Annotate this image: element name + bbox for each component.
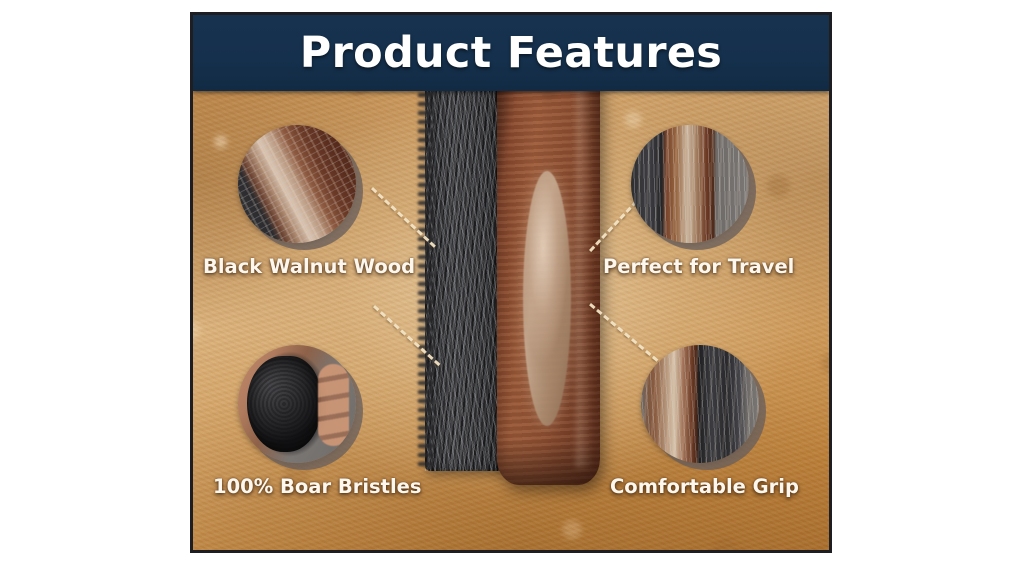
- product-image-brush: [425, 25, 600, 485]
- product-features-poster: Product Features: [190, 12, 832, 553]
- wood-grain-closeup-icon: [238, 125, 356, 243]
- handle-grip-inlay: [523, 171, 571, 426]
- screenshot-canvas: Product Features: [0, 0, 1024, 576]
- feature-callout-black-walnut-wood[interactable]: Black Walnut Wood: [238, 125, 356, 278]
- feature-label-boar-bristles: 100% Boar Bristles: [213, 475, 331, 498]
- brush-bristles: [425, 39, 505, 471]
- grip-closeup-icon: [641, 345, 759, 463]
- handle-gloss-highlight: [576, 31, 592, 468]
- hand-holding-brush-art: [238, 345, 356, 463]
- feature-callout-perfect-for-travel[interactable]: Perfect for Travel: [631, 125, 749, 278]
- feature-label-perfect-for-travel: Perfect for Travel: [603, 255, 721, 278]
- feature-label-black-walnut-wood: Black Walnut Wood: [203, 255, 321, 278]
- brush-profile-closeup-icon: [631, 125, 749, 243]
- brush-profile-art: [631, 125, 749, 243]
- feature-callout-comfortable-grip[interactable]: Comfortable Grip: [641, 345, 759, 498]
- hand-holding-brush-icon: [238, 345, 356, 463]
- grip-closeup-art: [641, 345, 759, 463]
- page-title: Product Features: [300, 32, 722, 75]
- feature-label-comfortable-grip: Comfortable Grip: [610, 475, 728, 498]
- wood-grain-art: [238, 125, 356, 243]
- poster-header: Product Features: [193, 15, 829, 91]
- brush-wood-handle: [497, 25, 600, 485]
- feature-callout-boar-bristles[interactable]: 100% Boar Bristles: [238, 345, 356, 498]
